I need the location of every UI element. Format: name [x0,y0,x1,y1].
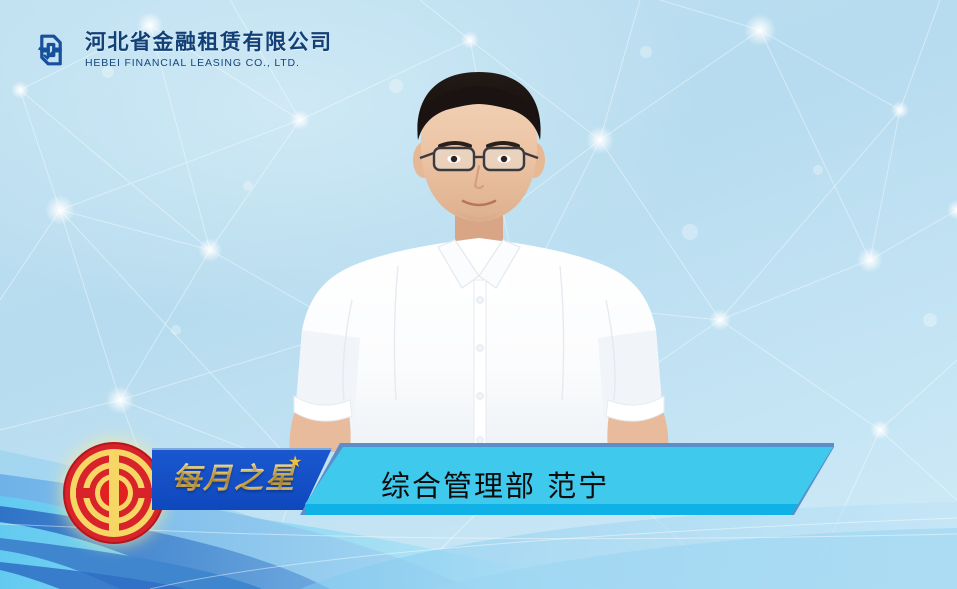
poster-canvas: 河北省金融租赁有限公司 HEBEI FINANCIAL LEASING CO.,… [0,0,957,589]
employee-name-label: 综合管理部 范宁 [381,463,609,505]
gold-star-icon: ★ [288,452,302,472]
trade-union-emblem [62,441,166,545]
name-plate-bottom-strip [305,504,833,515]
monthly-star-title: 每月之星 [172,455,296,497]
